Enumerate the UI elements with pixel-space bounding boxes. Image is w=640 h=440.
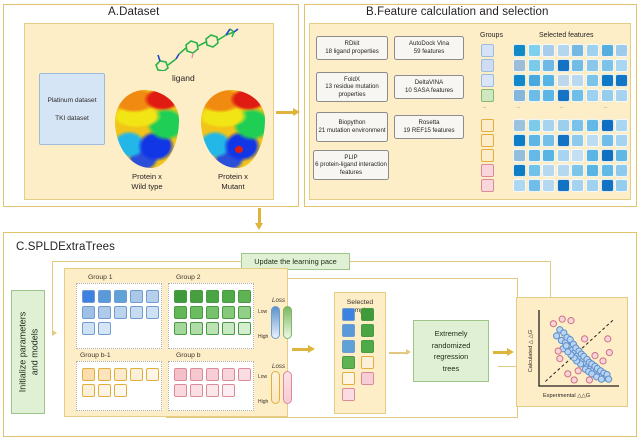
group-swatch-top-3 — [481, 89, 494, 102]
dataset-box: Platinum dataset TKI dataset — [39, 73, 105, 145]
heat-bottom-cell-r4c7 — [615, 179, 628, 192]
arrow-a-to-b-line — [276, 111, 294, 114]
group-0-sample-r0c4 — [146, 290, 159, 303]
loss-pill-orange — [271, 371, 280, 404]
group-1-sample-r1c1 — [190, 306, 203, 319]
group-1-sample-r1c2 — [206, 306, 219, 319]
group-2-sample-r0c2 — [114, 368, 127, 381]
foldx-name: FoldX — [344, 76, 360, 84]
model-line2: randomized — [432, 340, 471, 352]
model-line1: Extremely — [435, 328, 468, 340]
protein-wt-line1: Protein x — [111, 172, 183, 182]
heat-bottom-cell-r2c7 — [615, 149, 628, 162]
heat-bottom-cell-r4c1 — [528, 179, 541, 192]
protein-mutant-label: Protein x Mutant — [197, 172, 269, 191]
selected-sample-6 — [342, 356, 355, 369]
feature-box-biopython: Biopython 21 mutation environment — [316, 112, 388, 142]
ligand-label: ligand — [172, 73, 195, 83]
selected-sample-4 — [342, 340, 355, 353]
group-0-sample-r1c3 — [130, 306, 143, 319]
group-0-sample-r2c0 — [82, 322, 95, 335]
feedback-line-left-down — [52, 261, 53, 333]
heat-bottom-cell-r2c0 — [513, 149, 526, 162]
heat-top-cell-r3c2 — [542, 89, 555, 102]
heat-bottom-cell-r1c6 — [601, 134, 614, 147]
heat-bottom-cell-r0c6 — [601, 119, 614, 132]
feature-box-rdkit: RDkit 18 ligand properties — [316, 36, 388, 60]
group-3-sample-r1c2 — [206, 384, 219, 397]
heat-top-cell-r2c0 — [513, 74, 526, 87]
feature-box-deltavina: DeltaVINA 10 SASA features — [394, 75, 464, 99]
group-0-sample-r1c1 — [98, 306, 111, 319]
heat-bottom-cell-r2c2 — [542, 149, 555, 162]
group-swatch-bottom-4 — [481, 179, 494, 192]
selected-sample-10 — [342, 388, 355, 401]
heat-bottom-cell-r0c3 — [557, 119, 570, 132]
loss-legend-bottom-title: Loss — [272, 363, 285, 370]
scatter-point-outliers-12 — [605, 336, 611, 342]
group-3-sample-r0c2 — [206, 368, 219, 381]
heat-bottom-cell-r2c6 — [601, 149, 614, 162]
group-1-sample-r2c1 — [190, 322, 203, 335]
results-scatter-panel: Calculated △ △G Experimental △△G — [516, 297, 628, 407]
arrow-b-to-c-line — [258, 208, 261, 224]
arrow-selected-to-model-head — [406, 349, 411, 355]
heat-bottom-cell-r4c4 — [571, 179, 584, 192]
selected-sample-5 — [361, 340, 374, 353]
group-swatch-bottom-1 — [481, 134, 494, 147]
loss-legend-bottom-high: High — [258, 399, 268, 405]
group-3-sample-r0c3 — [222, 368, 235, 381]
feature-box-foldx: FoldX 13 residue mutation properties — [316, 72, 388, 102]
rosetta-detail: 19 REF15 features — [403, 127, 454, 135]
heat-top-cell-r0c0 — [513, 44, 526, 57]
heat-bottom-cell-r1c7 — [615, 134, 628, 147]
heat-bottom-cell-r3c4 — [571, 164, 584, 177]
feedback-arrow-left — [52, 330, 57, 336]
group-2-sample-r0c0 — [82, 368, 95, 381]
foldx-detail: 13 residue mutation properties — [318, 83, 386, 98]
selected-sample-0 — [342, 308, 355, 321]
group-0-sample-r1c4 — [146, 306, 159, 319]
group-0-sample-r1c2 — [114, 306, 127, 319]
group-2-sample-r1c0 — [82, 384, 95, 397]
heat-bottom-cell-r4c6 — [601, 179, 614, 192]
scatter-point-outliers-13 — [568, 318, 574, 324]
loss-pill-green — [283, 306, 292, 339]
group-2-sample-r0c4 — [146, 368, 159, 381]
group-swatch-top-2 — [481, 74, 494, 87]
arrow-selected-to-model-line — [389, 352, 407, 354]
heat-top-cell-r1c3 — [557, 59, 570, 72]
heat-bottom-cell-r3c1 — [528, 164, 541, 177]
heat-bottom-cell-r2c3 — [557, 149, 570, 162]
plip-name: PLIP — [344, 154, 357, 162]
heat-top-cell-r1c6 — [601, 59, 614, 72]
heat-bottom-cell-r0c7 — [615, 119, 628, 132]
group-swatch-top-0 — [481, 44, 494, 57]
heat-bottom-cell-r1c2 — [542, 134, 555, 147]
group-1-sample-r2c0 — [174, 322, 187, 335]
arrow-b-to-c-head — [255, 223, 263, 230]
vina-name: AutoDock Vina — [409, 40, 449, 48]
group-0-sample-r0c2 — [114, 290, 127, 303]
arrow-model-to-scatter-line — [493, 351, 508, 354]
groups-header: Groups — [480, 32, 503, 39]
group-3-sample-r0c4 — [238, 368, 251, 381]
heat-bottom-cell-r3c2 — [542, 164, 555, 177]
heat-top-cell-r2c6 — [601, 74, 614, 87]
heat-top-cell-r1c7 — [615, 59, 628, 72]
heat-top-cell-r1c0 — [513, 59, 526, 72]
group-swatch-bottom-2 — [481, 149, 494, 162]
feedback-line-top-left — [52, 261, 242, 262]
protein-mut-line2: Mutant — [197, 182, 269, 192]
panel-c-title: C.SPLDExtraTrees — [16, 241, 115, 253]
regression-model-box: Extremely randomized regression trees — [413, 320, 489, 382]
heat-bottom-cell-r2c5 — [586, 149, 599, 162]
heat-bottom-cell-r4c3 — [557, 179, 570, 192]
biopython-name: Biopython — [338, 119, 365, 127]
group-2-sample-r1c2 — [114, 384, 127, 397]
heat-bottom-cell-r0c0 — [513, 119, 526, 132]
feedback-line-top-right — [350, 261, 551, 262]
group-1-sample-r0c1 — [190, 290, 203, 303]
rosetta-name: Rosetta — [418, 119, 439, 127]
heat-bottom-cell-r0c1 — [528, 119, 541, 132]
model-line4: trees — [443, 363, 459, 375]
group-1-label: Group 1 — [88, 274, 113, 281]
heat-bottom-cell-r2c1 — [528, 149, 541, 162]
heat-top-cell-r3c7 — [615, 89, 628, 102]
initialize-parameters-text: Initialize parameters and models — [16, 312, 40, 393]
protein-mut-line1: Protein x — [197, 172, 269, 182]
plip-detail: 6 protein-ligand interaction features — [315, 161, 387, 176]
group-2-sample-r1c1 — [98, 384, 111, 397]
group-swatch-bottom-3 — [481, 164, 494, 177]
heat-top-cell-r2c4 — [571, 74, 584, 87]
heat-bottom-cell-r2c4 — [571, 149, 584, 162]
group-0-sample-r1c0 — [82, 306, 95, 319]
group-2-label: Group 2 — [176, 274, 201, 281]
scatter-point-outliers-3 — [559, 316, 565, 322]
init-line2: and models — [28, 312, 40, 393]
scatter-point-outliers-5 — [571, 377, 577, 383]
heat-top-cell-r0c6 — [601, 44, 614, 57]
heat-top-cell-r2c1 — [528, 74, 541, 87]
heat-top-cell-r0c1 — [528, 44, 541, 57]
selected-sample-7 — [361, 356, 374, 369]
loss-legend-bottom-low: Low — [258, 374, 267, 380]
model-line3: regression — [434, 351, 469, 363]
heat-top-cell-r3c4 — [571, 89, 584, 102]
panel-a-title: A.Dataset — [108, 6, 159, 18]
group-1-sample-r1c4 — [238, 306, 251, 319]
arrow-model-to-scatter-head — [507, 348, 514, 356]
loss-pill-pink — [283, 371, 292, 404]
heat-top-cell-r3c6 — [601, 89, 614, 102]
heat-bottom-cell-r4c5 — [586, 179, 599, 192]
heat-bottom-cell-r0c2 — [542, 119, 555, 132]
selected-line1: Selected — [335, 299, 385, 307]
arrow-groups-to-selected-head — [308, 345, 315, 353]
scatter-point-outliers-6 — [575, 368, 581, 374]
heat-bottom-cell-r1c5 — [586, 134, 599, 147]
group-3-sample-r1c0 — [174, 384, 187, 397]
heat-bottom-cell-r3c5 — [586, 164, 599, 177]
rdkit-name: RDkit — [345, 40, 360, 48]
deltavina-name: DeltaVINA — [415, 79, 443, 87]
heat-top-cell-r1c5 — [586, 59, 599, 72]
scatter-point-outliers-9 — [592, 353, 598, 359]
group-3-sample-r1c3 — [222, 384, 235, 397]
loss-legend-top-low: Low — [258, 309, 267, 315]
biopython-detail: 21 mutation environment — [318, 127, 385, 135]
arrow-groups-to-selected-line — [292, 348, 309, 351]
heat-bottom-cell-r1c0 — [513, 134, 526, 147]
outer-loop-line-bottom — [166, 417, 518, 418]
heat-bottom-cell-r4c2 — [542, 179, 555, 192]
heat-top-cell-r0c7 — [615, 44, 628, 57]
scatter-point-inliers-46 — [563, 343, 569, 349]
dataset-platinum-label: Platinum dataset — [47, 97, 96, 104]
selected-sample-1 — [361, 308, 374, 321]
heat-top-cell-r2c5 — [586, 74, 599, 87]
mutation-site-marker — [235, 146, 243, 153]
heat-bottom-cell-r0c5 — [586, 119, 599, 132]
heat-bottom-cell-r3c6 — [601, 164, 614, 177]
feature-box-rosetta: Rosetta 19 REF15 features — [394, 115, 464, 139]
group-swatch-bottom-0 — [481, 119, 494, 132]
scatter-x-axis-label: Experimental △△G — [543, 393, 590, 399]
ligand-icon — [146, 23, 242, 71]
heatmap-ellipsis-1: ... — [517, 104, 519, 110]
dataset-tki-label: TKI dataset — [55, 115, 89, 122]
heat-top-cell-r1c4 — [571, 59, 584, 72]
group-0-sample-r0c0 — [82, 290, 95, 303]
scatter-point-inliers-34 — [606, 376, 612, 382]
initialize-parameters-box: Initialize parameters and models — [11, 290, 45, 414]
group-1-sample-r2c2 — [206, 322, 219, 335]
heat-top-cell-r0c4 — [571, 44, 584, 57]
heat-top-cell-r0c3 — [557, 44, 570, 57]
heat-top-cell-r2c3 — [557, 74, 570, 87]
heat-bottom-cell-r0c4 — [571, 119, 584, 132]
heatmap-ellipsis-3: ... — [604, 104, 606, 110]
group-1-sample-r0c4 — [238, 290, 251, 303]
heat-bottom-cell-r3c7 — [615, 164, 628, 177]
scatter-point-outliers-1 — [555, 348, 561, 354]
protein-wt-line2: Wild type — [111, 182, 183, 192]
figure-root: A.Dataset Platinum dataset TKI dataset — [0, 0, 640, 440]
scatter-point-outliers-8 — [586, 377, 592, 383]
deltavina-detail: 10 SASA features — [405, 87, 453, 95]
heat-top-cell-r3c3 — [557, 89, 570, 102]
group-swatch-top-1 — [481, 59, 494, 72]
scatter-y-axis-label: Calculated △ △G — [528, 323, 534, 379]
selected-sample-3 — [361, 324, 374, 337]
scatter-point-outliers-0 — [550, 321, 556, 327]
heat-top-cell-r3c0 — [513, 89, 526, 102]
protein-wild-type-label: Protein x Wild type — [111, 172, 183, 191]
group-2-sample-r0c1 — [98, 368, 111, 381]
heat-top-cell-r3c5 — [586, 89, 599, 102]
group-1-sample-r0c3 — [222, 290, 235, 303]
scatter-point-outliers-10 — [600, 358, 606, 364]
selected-features-header: Selected features — [539, 32, 593, 39]
selected-sample-9 — [361, 372, 374, 385]
group-1-sample-r0c0 — [174, 290, 187, 303]
heat-bottom-cell-r1c4 — [571, 134, 584, 147]
heat-top-cell-r0c2 — [542, 44, 555, 57]
group-1-sample-r0c2 — [206, 290, 219, 303]
heat-top-cell-r2c7 — [615, 74, 628, 87]
init-line1: Initialize parameters — [16, 312, 28, 393]
group-1-sample-r2c3 — [222, 322, 235, 335]
loss-legend-top-high: High — [258, 334, 268, 340]
heat-top-cell-r1c1 — [528, 59, 541, 72]
group-3-sample-r0c0 — [174, 368, 187, 381]
arrow-a-to-b-head — [293, 108, 300, 116]
group-0-sample-r2c1 — [98, 322, 111, 335]
heatmap-ellipsis-2: ... — [560, 104, 562, 110]
group-0-sample-r0c1 — [98, 290, 111, 303]
group-b1-label: Group b-1 — [80, 352, 111, 359]
group-2-sample-r0c3 — [130, 368, 143, 381]
heat-top-cell-r2c2 — [542, 74, 555, 87]
loss-pill-blue — [271, 306, 280, 339]
scatter-point-outliers-2 — [557, 356, 563, 362]
heatmap-ellipsis-0: ... — [483, 104, 485, 110]
rdkit-detail: 18 ligand properties — [325, 48, 379, 56]
group-b-label: Group b — [176, 352, 201, 359]
group-1-sample-r1c3 — [222, 306, 235, 319]
heat-top-cell-r1c2 — [542, 59, 555, 72]
heat-top-cell-r0c5 — [586, 44, 599, 57]
vina-detail: 59 features — [414, 48, 445, 56]
scatter-point-inliers-44 — [598, 376, 604, 382]
heat-bottom-cell-r1c1 — [528, 134, 541, 147]
scatter-point-outliers-7 — [582, 336, 588, 342]
group-3-sample-r1c1 — [190, 384, 203, 397]
heat-bottom-cell-r3c3 — [557, 164, 570, 177]
heat-bottom-cell-r1c3 — [557, 134, 570, 147]
group-3-sample-r0c1 — [190, 368, 203, 381]
loss-legend-top-title: Loss — [272, 297, 285, 304]
feature-box-plip: PLIP 6 protein-ligand interaction featur… — [313, 150, 389, 180]
group-1-sample-r2c4 — [238, 322, 251, 335]
group-1-sample-r1c0 — [174, 306, 187, 319]
selected-sample-8 — [342, 372, 355, 385]
selected-sample-2 — [342, 324, 355, 337]
feature-box-autodock-vina: AutoDock Vina 59 features — [394, 36, 464, 60]
heat-bottom-cell-r4c0 — [513, 179, 526, 192]
heat-top-cell-r3c1 — [528, 89, 541, 102]
heat-bottom-cell-r3c0 — [513, 164, 526, 177]
scatter-point-outliers-4 — [565, 371, 571, 377]
scatter-point-outliers-11 — [606, 349, 612, 355]
panel-b-title: B.Feature calculation and selection — [366, 6, 549, 18]
group-0-sample-r0c3 — [130, 290, 143, 303]
